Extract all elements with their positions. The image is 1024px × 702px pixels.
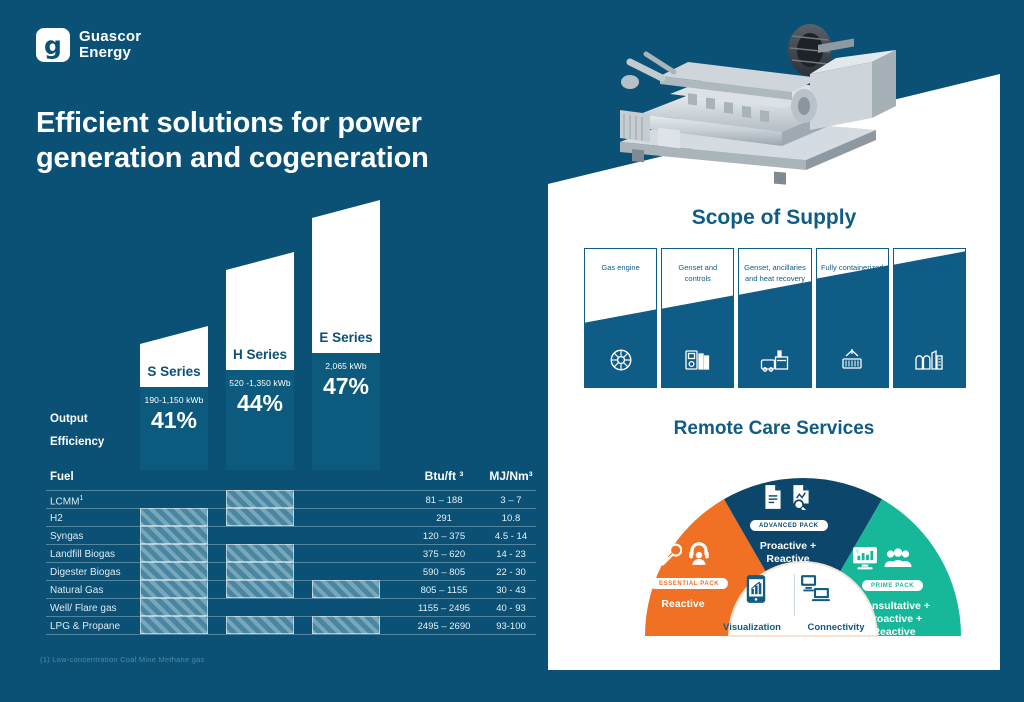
row-divider [46,634,536,635]
scope-card[interactable]: Fully containerized CHP package [816,248,889,388]
svg-text:c: c [856,549,859,555]
bar-column-s-series: S Series190-1,150 kWb41% [140,326,208,470]
scope-card-label: Turnkey power plant [894,249,965,285]
hub-label-visualization: Visualization [714,622,790,633]
fuel-cell-supported [226,616,294,634]
bar-body: 190-1,150 kWb41% [140,387,208,470]
mobile-chart-icon [745,574,767,609]
headset-support-icon [686,540,712,571]
hub-divider [794,574,795,616]
efficiency-chart: S Series190-1,150 kWb41%H Series520 -1,3… [36,180,526,655]
genset-controls-icon [662,347,733,378]
row-label-efficiency: Efficiency [50,436,104,448]
hub-label-connectivity: Connectivity [798,622,874,633]
scope-card[interactable]: Genset and controls [661,248,734,388]
output-value: 2,065 kWb [312,353,380,371]
remote-care-diagram: ESSENTIAL PACKReactiveADVANCED PACKProac… [642,450,964,650]
fuel-cell-empty [312,508,380,526]
btu-value: 291 [409,513,479,524]
fuel-cell-supported [140,580,208,598]
scope-card-label: Genset and controls [662,249,733,285]
bar-series-label: S Series [140,357,208,387]
bar-column-h-series: H Series520 -1,350 kWb44% [226,252,294,470]
mj-value: 22 - 30 [476,567,546,578]
column-header-mj: MJ/Nm³ [476,469,546,483]
row-label-output: Output [50,413,88,425]
bar-top-s-series [140,326,208,357]
badge-essential-pack[interactable]: ESSENTIAL PACK [650,578,728,589]
power-plant-icon [894,347,965,378]
fuel-row-label: H2 [50,513,63,524]
segment-label-essential: Reactive [644,598,722,611]
efficiency-value: 41% [140,405,208,434]
btu-value: 375 – 620 [409,549,479,560]
badge-advanced-pack[interactable]: ADVANCED PACK [750,520,828,531]
btu-value: 1155 – 2495 [409,603,479,614]
fuel-cell-supported [226,508,294,526]
fuel-cell-empty [312,562,380,580]
fuel-cell-supported [226,490,294,508]
bar-top-e-series [312,200,380,323]
fuel-cell-empty [312,544,380,562]
mj-value: 30 - 43 [476,585,546,596]
btu-value: 81 – 188 [409,495,479,506]
row-label-fuel: Fuel [50,471,74,483]
scope-of-supply-cards: Gas engineGenset and controlsGenset, anc… [584,248,966,388]
container-icon [817,347,888,378]
fuel-cell-supported [140,544,208,562]
dashboard-icon: c [852,546,878,575]
bar-body: 520 -1,350 kWb44% [226,370,294,470]
efficiency-value: 47% [312,371,380,400]
bar-series-label: E Series [312,323,380,353]
fuel-cell-supported [226,562,294,580]
fuel-row-label: Natural Gas [50,585,103,596]
fuel-cell-empty [312,526,380,544]
badge-prime-pack[interactable]: PRIME PACK [862,580,923,591]
btu-value: 590 – 805 [409,567,479,578]
fuel-row-label: Well/ Flare gas [50,603,117,614]
turbine-icon [585,347,656,378]
fuel-cell-supported [312,616,380,634]
scope-card-label: Gas engine [585,249,656,274]
output-value: 520 -1,350 kWb [226,370,294,388]
bar-body: 2,065 kWb47% [312,353,380,470]
fuel-cell-supported [140,508,208,526]
scope-card-label: Fully containerized CHP package [817,249,888,285]
mj-value: 3 – 7 [476,495,546,506]
scope-of-supply-title: Scope of Supply [548,206,1000,230]
fuel-cell-empty [226,598,294,616]
efficiency-value: 44% [226,388,294,417]
btu-value: 120 – 375 [409,531,479,542]
segment-label-prime: Consultative + Proactive + Reactive [850,600,938,639]
mj-value: 40 - 93 [476,603,546,614]
fuel-row-label: Digester Biogas [50,567,121,578]
brand-line-2: Energy [79,45,141,61]
analysis-search-icon [790,484,812,515]
bar-column-e-series: E Series2,065 kWb47% [312,200,380,470]
btu-value: 2495 – 2690 [409,621,479,632]
btu-value: 805 – 1155 [409,585,479,596]
mj-value: 93-100 [476,621,546,632]
fuel-cell-supported [140,526,208,544]
devices-icon [800,574,830,607]
team-icon [884,547,912,576]
fuel-row-label: Syngas [50,531,83,542]
brand-line-1: Guascor [79,29,141,45]
tools-icon [656,542,682,573]
fuel-cell-empty [226,526,294,544]
fuel-cell-empty [312,490,380,508]
fuel-row-label: LPG & Propane [50,621,120,632]
segment-label-advanced: Proactive + Reactive [747,540,829,566]
mj-value: 14 - 23 [476,549,546,560]
column-header-btu: Btu/ft ³ [404,469,484,483]
fuel-cell-supported [312,580,380,598]
fuel-cell-empty [140,490,208,508]
mj-value: 10.8 [476,513,546,524]
scope-card[interactable]: Gas engine [584,248,657,388]
scope-card-label: Genset, ancillaries and heat recovery [739,249,810,285]
scope-card[interactable]: Genset, ancillaries and heat recovery [738,248,811,388]
brand-wordmark: Guascor Energy [79,29,141,61]
output-value: 190-1,150 kWb [140,387,208,405]
brand-logo: g Guascor Energy [36,28,141,62]
guascor-logo-icon: g [36,28,70,62]
fuel-cell-supported [140,598,208,616]
fuel-cell-supported [140,562,208,580]
footnote: (1) Low-concentration Coal Mine Methane … [40,655,205,664]
fuel-row-label: LCMM1 [50,495,83,507]
bar-top-h-series [226,252,294,340]
fuel-cell-empty [312,598,380,616]
heat-recovery-icon [739,349,810,378]
bar-series-label: H Series [226,340,294,370]
mj-value: 4.5 - 14 [476,531,546,542]
document-icon [762,484,784,515]
gas-engine-photo [596,10,916,190]
infographic-root: g Guascor Energy Efficient solutions for… [0,0,1024,702]
remote-care-title: Remote Care Services [548,418,1000,440]
fuel-cell-supported [140,616,208,634]
scope-card[interactable]: Turnkey power plant [893,248,966,388]
page-title: Efficient solutions for power generation… [36,106,466,177]
fuel-cell-supported [226,580,294,598]
fuel-row-label: Landfill Biogas [50,549,115,560]
fuel-cell-supported [226,544,294,562]
